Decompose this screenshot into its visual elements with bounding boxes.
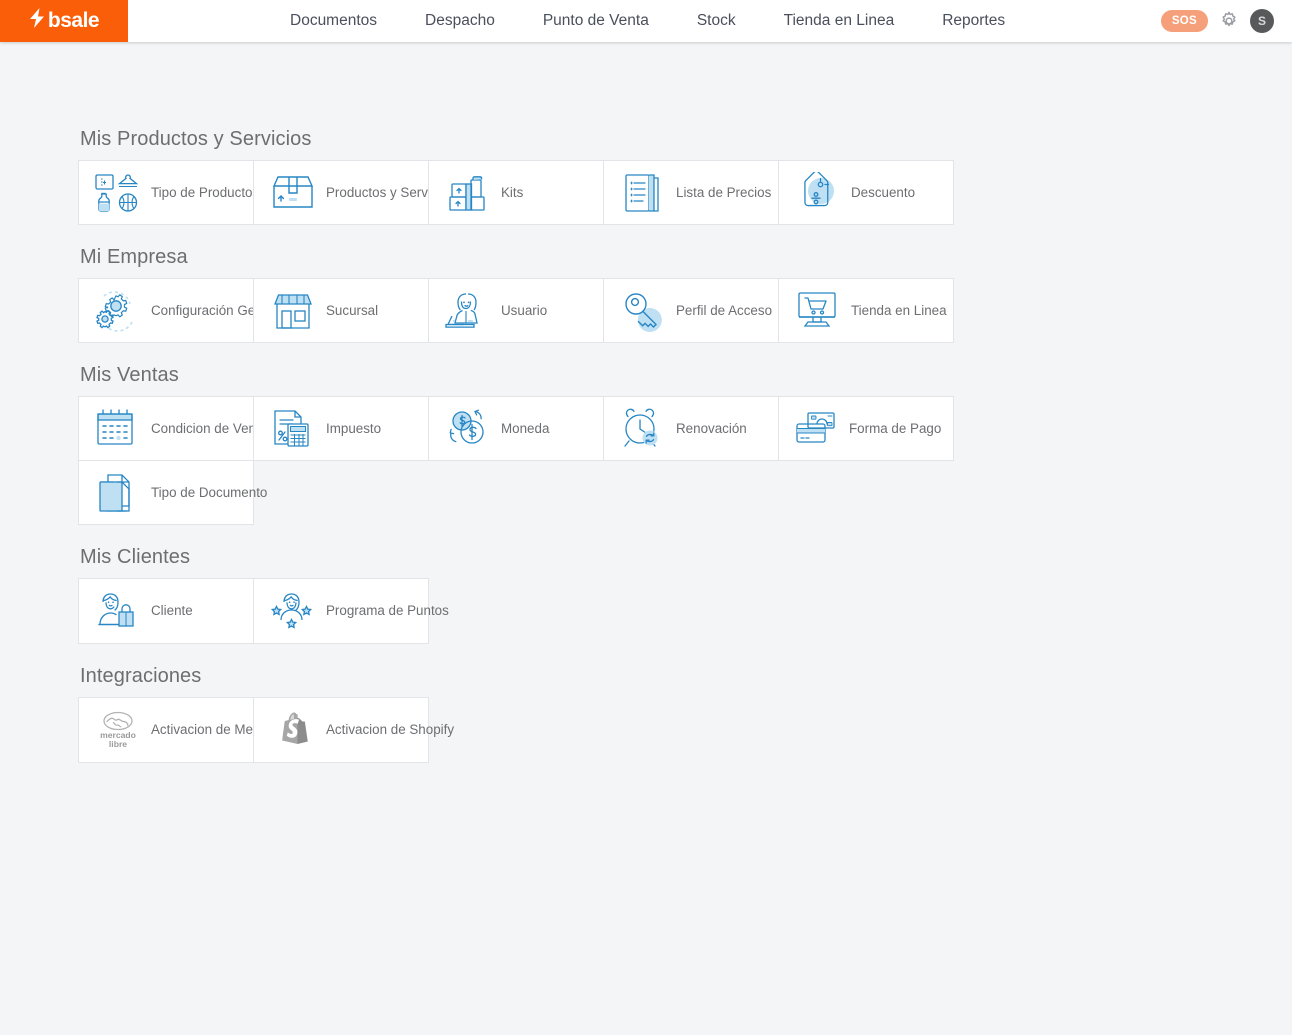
card-label: Activacion de Shopify	[326, 722, 454, 738]
card-label: Tipo de Documento	[151, 485, 267, 501]
store-icon	[264, 287, 322, 335]
card-renovacion[interactable]: Renovación	[603, 396, 779, 461]
top-header-bar: bsale Documentos Despacho Punto de Venta…	[0, 0, 1292, 42]
nav-reportes[interactable]: Reportes	[918, 0, 1029, 42]
alarm-refresh-icon	[614, 405, 672, 453]
card-grid: mercado libre Activacion de Mercado Libr…	[79, 697, 959, 762]
svg-text:libre: libre	[109, 739, 127, 749]
card-tipo-de-producto-o-servicio[interactable]: Tipo de Producto o Servicio	[78, 160, 254, 225]
shopify-icon	[264, 706, 322, 754]
section-mis-clientes: Mis Clientes	[79, 546, 1292, 643]
card-label: Cliente	[151, 603, 193, 619]
main-navigation: Documentos Despacho Punto de Venta Stock…	[266, 0, 1029, 42]
nav-stock[interactable]: Stock	[673, 0, 760, 42]
card-label: Sucursal	[326, 303, 378, 319]
card-condicion-de-venta[interactable]: Condicion de Venta	[78, 396, 254, 461]
card-label: Forma de Pago	[849, 421, 941, 437]
card-label: Kits	[501, 185, 523, 201]
nav-punto-de-venta[interactable]: Punto de Venta	[519, 0, 673, 42]
card-perfil-de-acceso[interactable]: Perfil de Acceso	[603, 278, 779, 343]
card-label: Perfil de Acceso	[676, 303, 772, 319]
sos-button[interactable]: SOS	[1161, 10, 1208, 32]
card-moneda[interactable]: Moneda	[428, 396, 604, 461]
discount-tag-icon	[789, 169, 847, 217]
credit-card-icon	[789, 405, 847, 453]
box-icon	[264, 169, 322, 217]
calendar-icon	[89, 405, 147, 453]
card-cliente[interactable]: Cliente	[78, 578, 254, 644]
product-type-icon	[89, 169, 147, 217]
card-activacion-de-shopify[interactable]: Activacion de Shopify	[253, 697, 429, 763]
nav-tienda-en-linea[interactable]: Tienda en Linea	[760, 0, 919, 42]
card-grid: Condicion de Venta	[79, 396, 959, 524]
section-title: Mis Productos y Servicios	[80, 128, 1292, 151]
section-title: Integraciones	[80, 665, 1292, 688]
bolt-icon	[29, 8, 45, 34]
currency-exchange-icon	[439, 405, 497, 453]
card-grid: Tipo de Producto o Servicio Productos y …	[79, 160, 959, 224]
settings-page-content: Mis Productos y Servicios	[0, 42, 1292, 762]
card-label: Programa de Puntos	[326, 603, 449, 619]
card-programa-de-puntos[interactable]: Programa de Puntos	[253, 578, 429, 644]
nav-documentos[interactable]: Documentos	[266, 0, 401, 42]
card-forma-de-pago[interactable]: Forma de Pago	[778, 396, 954, 461]
section-mis-ventas: Mis Ventas Condicion de Venta	[79, 364, 1292, 524]
gear-icon[interactable]	[1218, 10, 1240, 32]
section-title: Mis Ventas	[80, 364, 1292, 387]
section-title: Mi Empresa	[80, 246, 1292, 269]
card-sucursal[interactable]: Sucursal	[253, 278, 429, 343]
nav-despacho[interactable]: Despacho	[401, 0, 519, 42]
card-label: Lista de Precios	[676, 185, 771, 201]
section-mi-empresa: Mi Empresa	[79, 246, 1292, 342]
header-actions: SOS S	[1161, 0, 1274, 42]
key-icon	[614, 287, 672, 335]
avatar[interactable]: S	[1250, 9, 1274, 33]
price-list-icon	[614, 169, 672, 217]
card-grid: Configuración General Sucursal	[79, 278, 959, 342]
section-mis-productos-y-servicios: Mis Productos y Servicios	[79, 128, 1292, 224]
card-label: Impuesto	[326, 421, 381, 437]
card-kits[interactable]: Kits	[428, 160, 604, 225]
section-title: Mis Clientes	[80, 546, 1292, 569]
card-configuracion-general[interactable]: Configuración General	[78, 278, 254, 343]
card-productos-y-servicios[interactable]: Productos y Servicios	[253, 160, 429, 225]
card-label: Usuario	[501, 303, 547, 319]
bsale-logo-text: bsale	[48, 9, 99, 33]
bsale-logo[interactable]: bsale	[0, 0, 128, 42]
card-label: Renovación	[676, 421, 747, 437]
card-label: Condicion de Venta	[151, 421, 267, 437]
kits-icon	[439, 169, 497, 217]
gears-icon	[89, 287, 147, 335]
card-label: Tienda en Linea	[851, 303, 947, 319]
ecommerce-monitor-icon	[789, 287, 847, 335]
mercado-libre-icon: mercado libre	[89, 706, 147, 754]
card-grid: Cliente	[79, 578, 959, 643]
card-label: Moneda	[501, 421, 549, 437]
user-laptop-icon	[439, 287, 497, 335]
card-descuento[interactable]: Descuento	[778, 160, 954, 225]
bsale-wordmark: bsale	[29, 8, 99, 34]
section-integraciones: Integraciones mercado libre Activacion d…	[79, 665, 1292, 762]
client-icon	[89, 587, 147, 635]
card-label: Descuento	[851, 185, 915, 201]
card-activacion-de-mercado-libre[interactable]: mercado libre Activacion de Mercado Libr…	[78, 697, 254, 763]
card-tipo-de-documento[interactable]: Tipo de Documento	[78, 460, 254, 525]
card-lista-de-precios[interactable]: Lista de Precios	[603, 160, 779, 225]
card-tienda-en-linea[interactable]: Tienda en Linea	[778, 278, 954, 343]
documents-icon	[89, 469, 147, 517]
points-program-icon	[264, 587, 322, 635]
tax-document-icon	[264, 405, 322, 453]
card-impuesto[interactable]: Impuesto	[253, 396, 429, 461]
card-usuario[interactable]: Usuario	[428, 278, 604, 343]
